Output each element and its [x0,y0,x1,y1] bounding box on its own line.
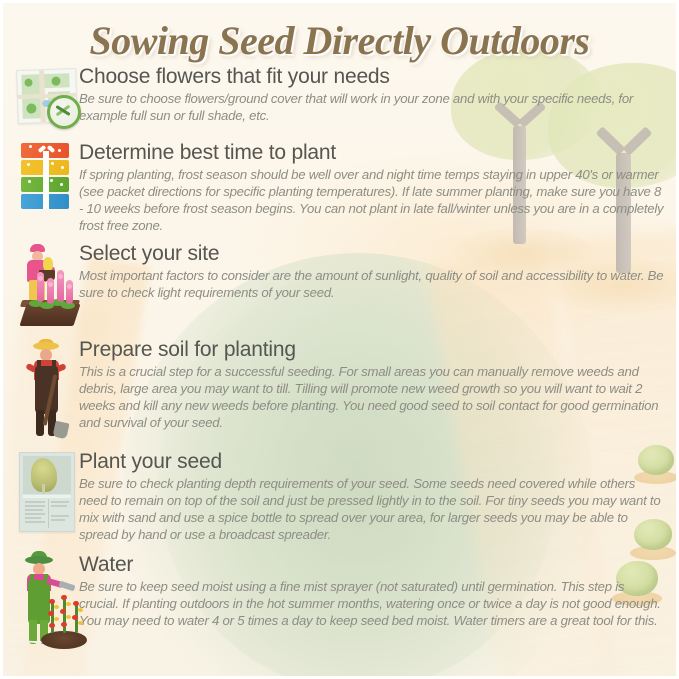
step-text: If spring planting, frost season should … [79,166,666,235]
steps-list: Choose flowers that fit your needs Be su… [3,65,679,653]
gardener-with-shovel-icon [9,338,83,442]
step-text: This is a crucial step for a successful … [79,363,666,432]
step-text: Be sure to check planting depth requirem… [79,475,666,544]
step-text: Be sure to keep seed moist using a fine … [79,578,666,629]
seed-packet-icon [9,450,83,542]
gardener-with-planter-icon [9,242,83,330]
step-plant-seed: Plant your seed Be sure to check plantin… [3,450,679,543]
infographic-poster: Sowing Seed Directly Outdoors [0,0,679,679]
step-body: Determine best time to plant If spring p… [79,141,679,234]
step-text: Be sure to choose flowers/ground cover t… [79,90,666,124]
step-water: Water Be sure to keep seed moist using a… [3,553,679,653]
page-title: Sowing Seed Directly Outdoors [3,17,676,64]
step-heading: Plant your seed [79,450,666,474]
step-choose-flowers: Choose flowers that fit your needs Be su… [3,65,679,131]
step-heading: Water [79,553,666,577]
step-body: Water Be sure to keep seed moist using a… [79,553,679,629]
step-body: Select your site Most important factors … [79,242,679,301]
step-heading: Determine best time to plant [79,141,666,165]
step-heading: Choose flowers that fit your needs [79,65,666,89]
step-select-site: Select your site Most important factors … [3,242,679,330]
four-seasons-icon [9,141,83,219]
step-body: Plant your seed Be sure to check plantin… [79,450,679,543]
step-prepare-soil: Prepare soil for planting This is a cruc… [3,338,679,442]
step-text: Most important factors to consider are t… [79,267,666,301]
step-body: Choose flowers that fit your needs Be su… [79,65,679,124]
step-body: Prepare soil for planting This is a cruc… [79,338,679,431]
compass-icon [47,95,81,129]
step-determine-time: Determine best time to plant If spring p… [3,141,679,234]
step-heading: Prepare soil for planting [79,338,666,362]
step-heading: Select your site [79,242,666,266]
gardener-watering-icon [9,553,83,653]
garden-plan-map-icon [9,65,83,131]
